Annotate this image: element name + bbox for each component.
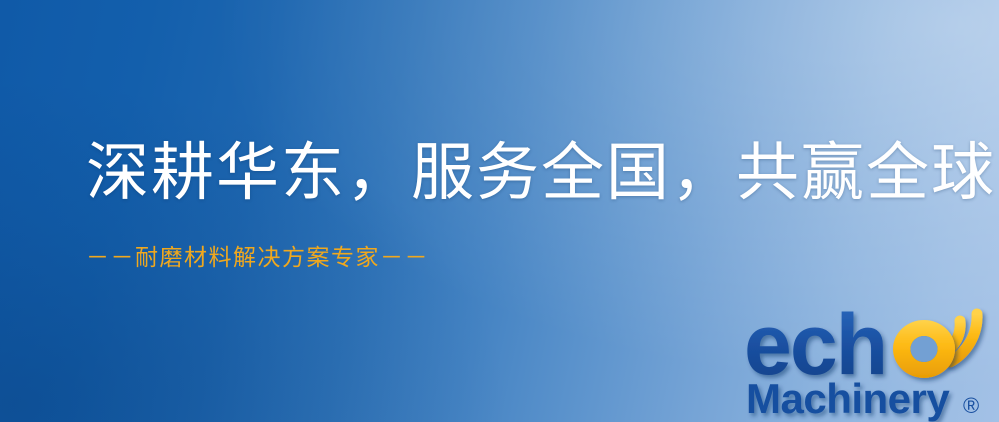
promo-banner: 深耕华东，服务全国，共赢全球 －－耐磨材料解决方案专家－－ bbox=[0, 0, 999, 422]
banner-subline: －－耐磨材料解决方案专家－－ bbox=[86, 244, 946, 272]
logo-tagline-group: Machinery ® bbox=[746, 375, 979, 422]
logo-letter-o-accent bbox=[893, 320, 955, 378]
echo-machinery-logo[interactable]: ech Machinery ® bbox=[744, 296, 999, 422]
banner-copy-block: 深耕华东，服务全国，共赢全球 －－耐磨材料解决方案专家－－ bbox=[86, 140, 946, 272]
logo-tagline-machinery: Machinery bbox=[746, 375, 950, 422]
logo-registered-mark: ® bbox=[963, 393, 979, 418]
banner-headline: 深耕华东，服务全国，共赢全球 bbox=[86, 140, 946, 206]
